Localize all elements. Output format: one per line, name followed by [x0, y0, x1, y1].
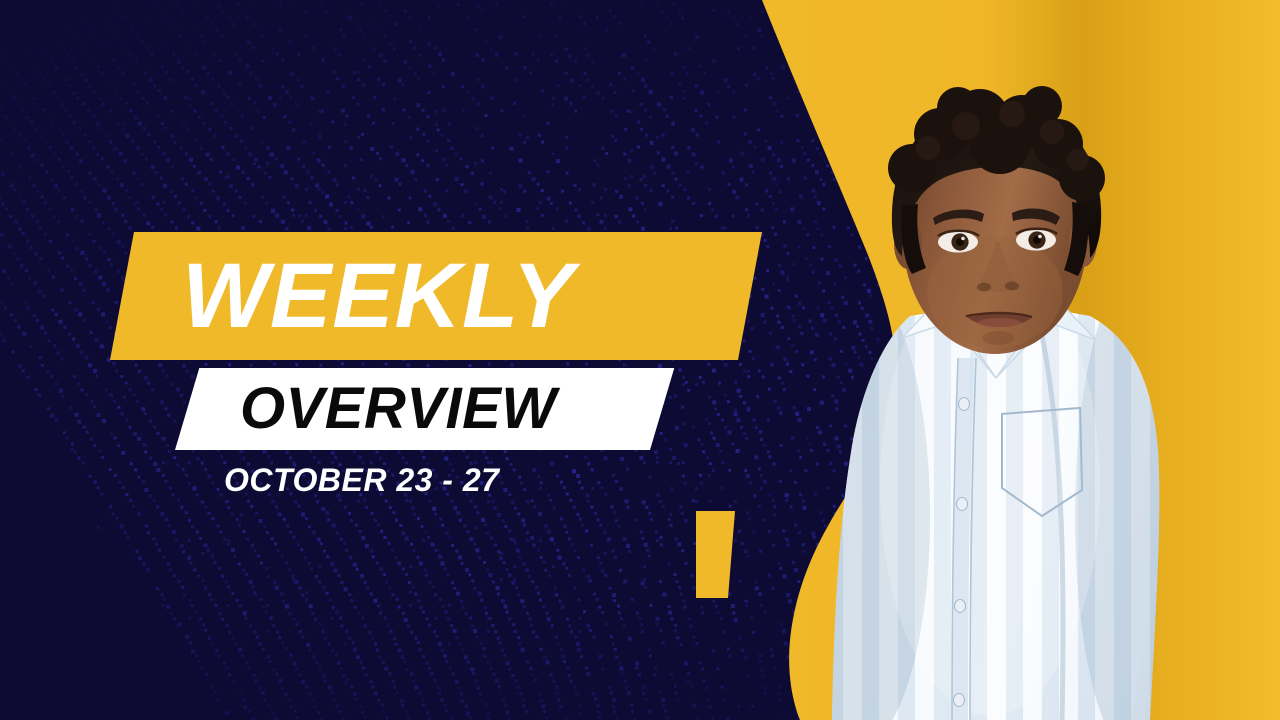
- date-range-label: OCTOBER 23 - 27: [224, 462, 499, 499]
- page-title-primary: WEEKLY: [182, 236, 742, 356]
- page-title-secondary: OVERVIEW: [240, 371, 660, 447]
- weekly-overview-banner: WEEKLY OVERVIEW OCTOBER 23 - 27: [0, 0, 1280, 720]
- title-block: WEEKLY OVERVIEW OCTOBER 23 - 27: [0, 0, 780, 520]
